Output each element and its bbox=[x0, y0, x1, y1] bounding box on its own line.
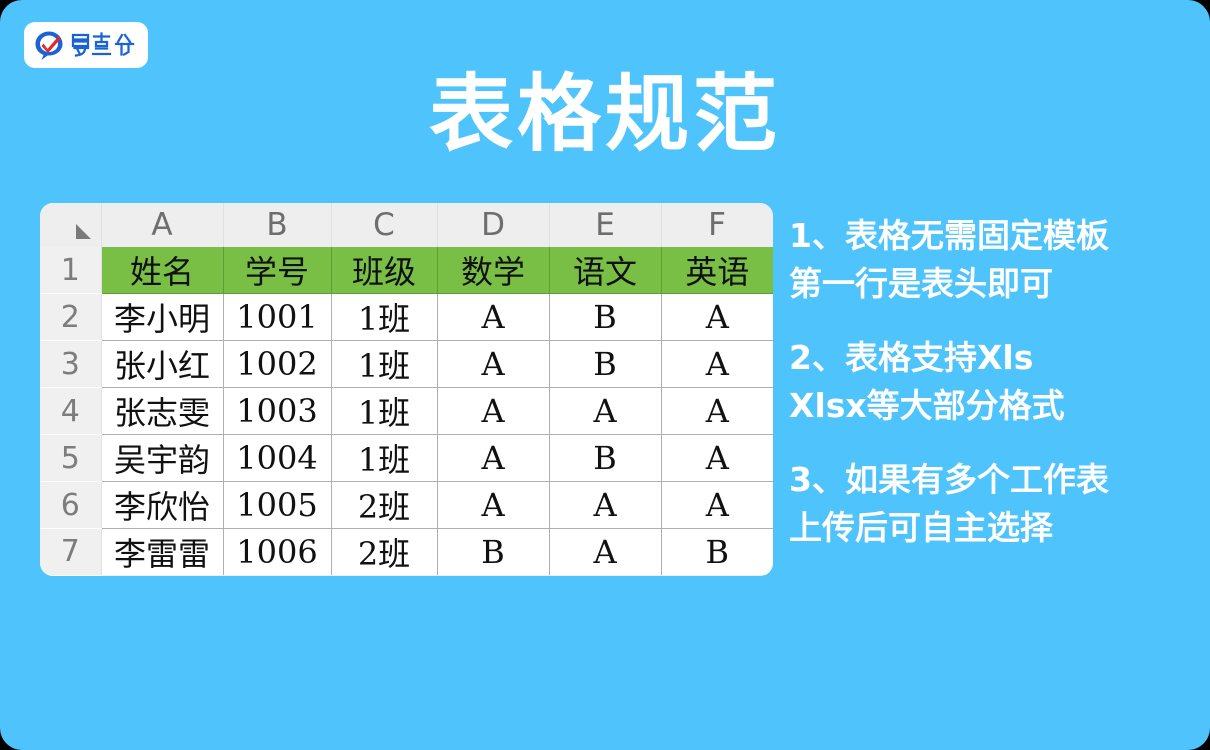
cell-c6[interactable]: 2班 bbox=[331, 482, 437, 529]
cell-b3[interactable]: 1002 bbox=[223, 341, 331, 388]
note-item-2: 2、表格支持Xls Xlsx等大部分格式 bbox=[789, 334, 1189, 430]
table-row: 5 吴宇韵 1004 1班 A B A bbox=[40, 435, 773, 482]
cell-d2[interactable]: A bbox=[437, 294, 549, 341]
column-header-row: A B C D E F bbox=[40, 203, 773, 247]
cell-e4[interactable]: A bbox=[549, 388, 661, 435]
row-header-6[interactable]: 6 bbox=[40, 482, 101, 529]
speech-bubble-check-icon bbox=[33, 29, 65, 61]
cell-e1[interactable]: 语文 bbox=[549, 247, 661, 294]
page-title: 表格规范 bbox=[0, 62, 1210, 166]
note-1-line-1: 1、表格无需固定模板 bbox=[789, 212, 1189, 260]
note-1-line-2: 第一行是表头即可 bbox=[789, 260, 1189, 308]
cell-d4[interactable]: A bbox=[437, 388, 549, 435]
row-header-7[interactable]: 7 bbox=[40, 529, 101, 576]
cell-d3[interactable]: A bbox=[437, 341, 549, 388]
cell-a1[interactable]: 姓名 bbox=[101, 247, 223, 294]
cell-e7[interactable]: A bbox=[549, 529, 661, 576]
select-all-corner[interactable] bbox=[40, 203, 101, 247]
cell-e2[interactable]: B bbox=[549, 294, 661, 341]
cell-a7[interactable]: 李雷雷 bbox=[101, 529, 223, 576]
note-item-1: 1、表格无需固定模板 第一行是表头即可 bbox=[789, 212, 1189, 308]
cell-d6[interactable]: A bbox=[437, 482, 549, 529]
note-item-3: 3、如果有多个工作表 上传后可自主选择 bbox=[789, 456, 1189, 552]
cell-e6[interactable]: A bbox=[549, 482, 661, 529]
cell-f1[interactable]: 英语 bbox=[661, 247, 773, 294]
cell-a6[interactable]: 李欣怡 bbox=[101, 482, 223, 529]
row-header-2[interactable]: 2 bbox=[40, 294, 101, 341]
cell-e5[interactable]: B bbox=[549, 435, 661, 482]
note-2-line-2: Xlsx等大部分格式 bbox=[789, 382, 1189, 430]
cell-b1[interactable]: 学号 bbox=[223, 247, 331, 294]
table-row: 3 张小红 1002 1班 A B A bbox=[40, 341, 773, 388]
cell-b7[interactable]: 1006 bbox=[223, 529, 331, 576]
poster-canvas: 表格规范 A B C D E F bbox=[0, 0, 1210, 750]
row-header-1[interactable]: 1 bbox=[40, 247, 101, 294]
cell-f4[interactable]: A bbox=[661, 388, 773, 435]
cell-b5[interactable]: 1004 bbox=[223, 435, 331, 482]
cell-f7[interactable]: B bbox=[661, 529, 773, 576]
column-header-a[interactable]: A bbox=[101, 203, 223, 247]
cell-f5[interactable]: A bbox=[661, 435, 773, 482]
row-header-5[interactable]: 5 bbox=[40, 435, 101, 482]
cell-c7[interactable]: 2班 bbox=[331, 529, 437, 576]
cell-c1[interactable]: 班级 bbox=[331, 247, 437, 294]
cell-b6[interactable]: 1005 bbox=[223, 482, 331, 529]
cell-c4[interactable]: 1班 bbox=[331, 388, 437, 435]
column-header-d[interactable]: D bbox=[437, 203, 549, 247]
cell-b4[interactable]: 1003 bbox=[223, 388, 331, 435]
cell-c5[interactable]: 1班 bbox=[331, 435, 437, 482]
row-header-3[interactable]: 3 bbox=[40, 341, 101, 388]
note-2-line-1: 2、表格支持Xls bbox=[789, 334, 1189, 382]
table-row: 4 张志雯 1003 1班 A A A bbox=[40, 388, 773, 435]
cell-d7[interactable]: B bbox=[437, 529, 549, 576]
note-3-line-1: 3、如果有多个工作表 bbox=[789, 456, 1189, 504]
cell-d5[interactable]: A bbox=[437, 435, 549, 482]
column-header-f[interactable]: F bbox=[661, 203, 773, 247]
cell-f3[interactable]: A bbox=[661, 341, 773, 388]
cell-a3[interactable]: 张小红 bbox=[101, 341, 223, 388]
table-row: 2 李小明 1001 1班 A B A bbox=[40, 294, 773, 341]
table-row: 6 李欣怡 1005 2班 A A A bbox=[40, 482, 773, 529]
column-header-b[interactable]: B bbox=[223, 203, 331, 247]
table-row: 1 姓名 学号 班级 数学 语文 英语 bbox=[40, 247, 773, 294]
column-header-e[interactable]: E bbox=[549, 203, 661, 247]
cell-e3[interactable]: B bbox=[549, 341, 661, 388]
notes-list: 1、表格无需固定模板 第一行是表头即可 2、表格支持Xls Xlsx等大部分格式… bbox=[789, 212, 1189, 578]
cell-a2[interactable]: 李小明 bbox=[101, 294, 223, 341]
table-row: 7 李雷雷 1006 2班 B A B bbox=[40, 529, 773, 576]
spreadsheet-card: A B C D E F 1 姓名 学号 班级 数学 语文 英语 bbox=[40, 203, 773, 576]
spreadsheet-table: A B C D E F 1 姓名 学号 班级 数学 语文 英语 bbox=[40, 203, 773, 576]
column-header-c[interactable]: C bbox=[331, 203, 437, 247]
cell-d1[interactable]: 数学 bbox=[437, 247, 549, 294]
cell-c3[interactable]: 1班 bbox=[331, 341, 437, 388]
cell-a4[interactable]: 张志雯 bbox=[101, 388, 223, 435]
row-header-4[interactable]: 4 bbox=[40, 388, 101, 435]
select-all-triangle-icon bbox=[76, 224, 91, 239]
cell-f2[interactable]: A bbox=[661, 294, 773, 341]
brand-wordmark bbox=[70, 32, 144, 58]
cell-b2[interactable]: 1001 bbox=[223, 294, 331, 341]
cell-a5[interactable]: 吴宇韵 bbox=[101, 435, 223, 482]
cell-c2[interactable]: 1班 bbox=[331, 294, 437, 341]
cell-f6[interactable]: A bbox=[661, 482, 773, 529]
note-3-line-2: 上传后可自主选择 bbox=[789, 504, 1189, 552]
